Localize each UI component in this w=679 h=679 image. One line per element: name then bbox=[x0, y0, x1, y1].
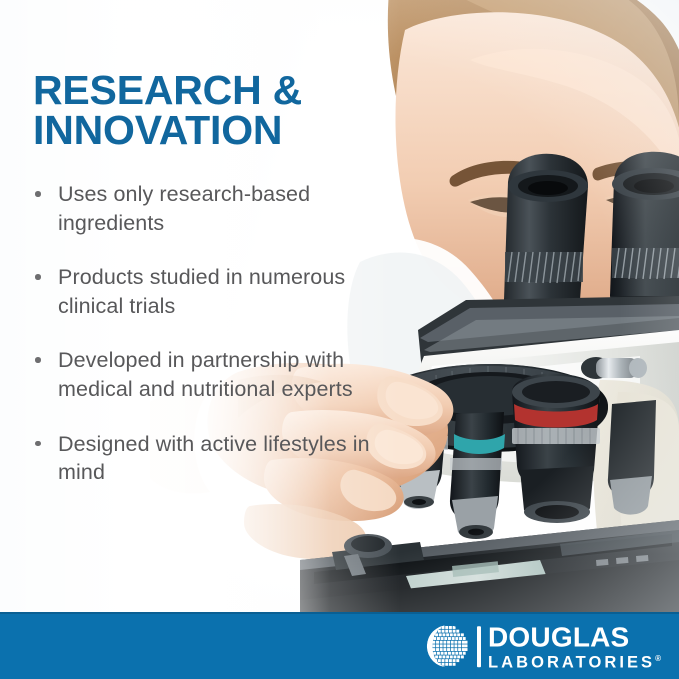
logo-name-secondary: LABORATORIES® bbox=[488, 654, 661, 671]
list-item-label: Uses only research-based ingredients bbox=[58, 182, 310, 235]
list-item: Products studied in numerous clinical tr… bbox=[31, 263, 391, 320]
logo-name-primary: DOUGLAS bbox=[488, 623, 661, 651]
logo-wordmark: DOUGLAS LABORATORIES® bbox=[488, 623, 661, 671]
list-item-label: Designed with active lifestyles in mind bbox=[58, 432, 370, 485]
brand-footer-bar: DOUGLAS LABORATORIES® bbox=[0, 612, 679, 679]
list-item: Developed in partnership with medical an… bbox=[31, 346, 391, 403]
bullet-dot-icon bbox=[35, 441, 41, 447]
list-item: Uses only research-based ingredients bbox=[31, 180, 391, 237]
list-item-label: Products studied in numerous clinical tr… bbox=[58, 265, 345, 318]
page-title: RESEARCH & INNOVATION bbox=[33, 71, 373, 151]
title-line-2: INNOVATION bbox=[33, 111, 373, 151]
feature-list: Uses only research-based ingredients Pro… bbox=[31, 180, 391, 487]
douglas-laboratories-logo: DOUGLAS LABORATORIES® bbox=[425, 623, 661, 671]
douglas-grid-circle-mark bbox=[425, 624, 471, 670]
bullet-dot-icon bbox=[35, 357, 41, 363]
logo-divider bbox=[477, 626, 481, 667]
promo-banner: RESEARCH & INNOVATION Uses only research… bbox=[0, 0, 679, 679]
bullet-dot-icon bbox=[35, 274, 41, 280]
registered-trademark-icon: ® bbox=[655, 653, 661, 662]
logo-name-secondary-text: LABORATORIES bbox=[488, 653, 655, 671]
list-item: Designed with active lifestyles in mind bbox=[31, 430, 391, 487]
list-item-label: Developed in partnership with medical an… bbox=[58, 348, 353, 401]
bullet-dot-icon bbox=[35, 191, 41, 197]
